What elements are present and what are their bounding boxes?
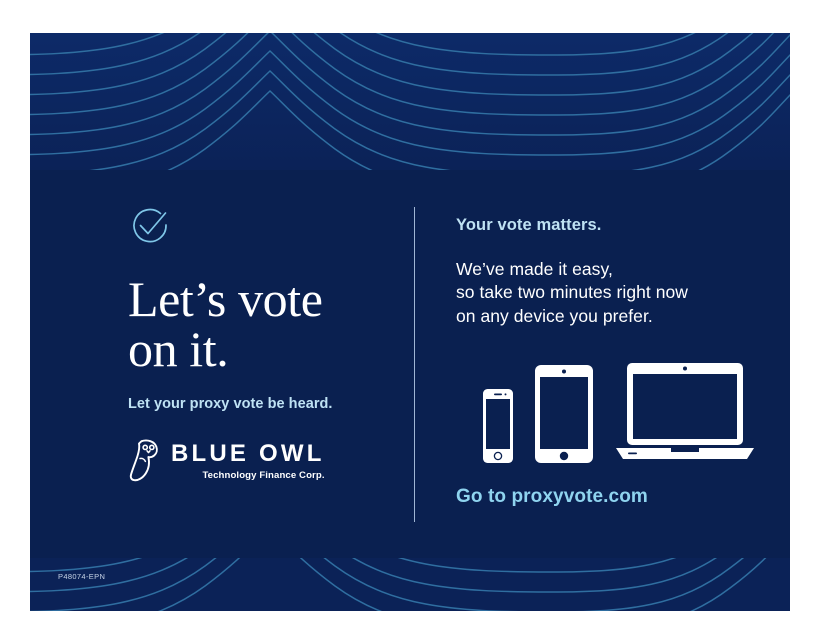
left-column: Let’s vote on it. Let your proxy vote be…: [128, 203, 398, 482]
top-pattern-band: [30, 33, 790, 170]
smartphone-icon: [482, 388, 514, 464]
circle-check-icon: [128, 203, 172, 247]
wave-pattern-top: [30, 33, 790, 170]
blue-owl-logo: BLUE OWL Technology Finance Corp.: [128, 438, 398, 482]
device-illustrations: [456, 356, 756, 464]
column-divider: [414, 207, 415, 522]
cta-link[interactable]: Go to proxyvote.com: [456, 486, 756, 508]
page-title: Let’s vote on it.: [128, 275, 398, 374]
right-column: Your vote matters. We’ve made it easy, s…: [456, 216, 756, 508]
right-body: We’ve made it easy, so take two minutes …: [456, 258, 756, 328]
proxy-vote-card: Let’s vote on it. Let your proxy vote be…: [30, 33, 790, 611]
tablet-icon: [534, 364, 594, 464]
bottom-pattern-band: [30, 558, 790, 611]
wave-pattern-bottom: [30, 558, 790, 611]
subheadline: Let your proxy vote be heard.: [128, 396, 398, 412]
logo-wordmark: BLUE OWL: [171, 442, 325, 466]
owl-icon: [128, 438, 162, 482]
right-title: Your vote matters.: [456, 216, 756, 235]
laptop-icon: [614, 360, 756, 464]
document-code: P48074-EPN: [58, 572, 105, 581]
logo-tagline: Technology Finance Corp.: [171, 471, 325, 481]
